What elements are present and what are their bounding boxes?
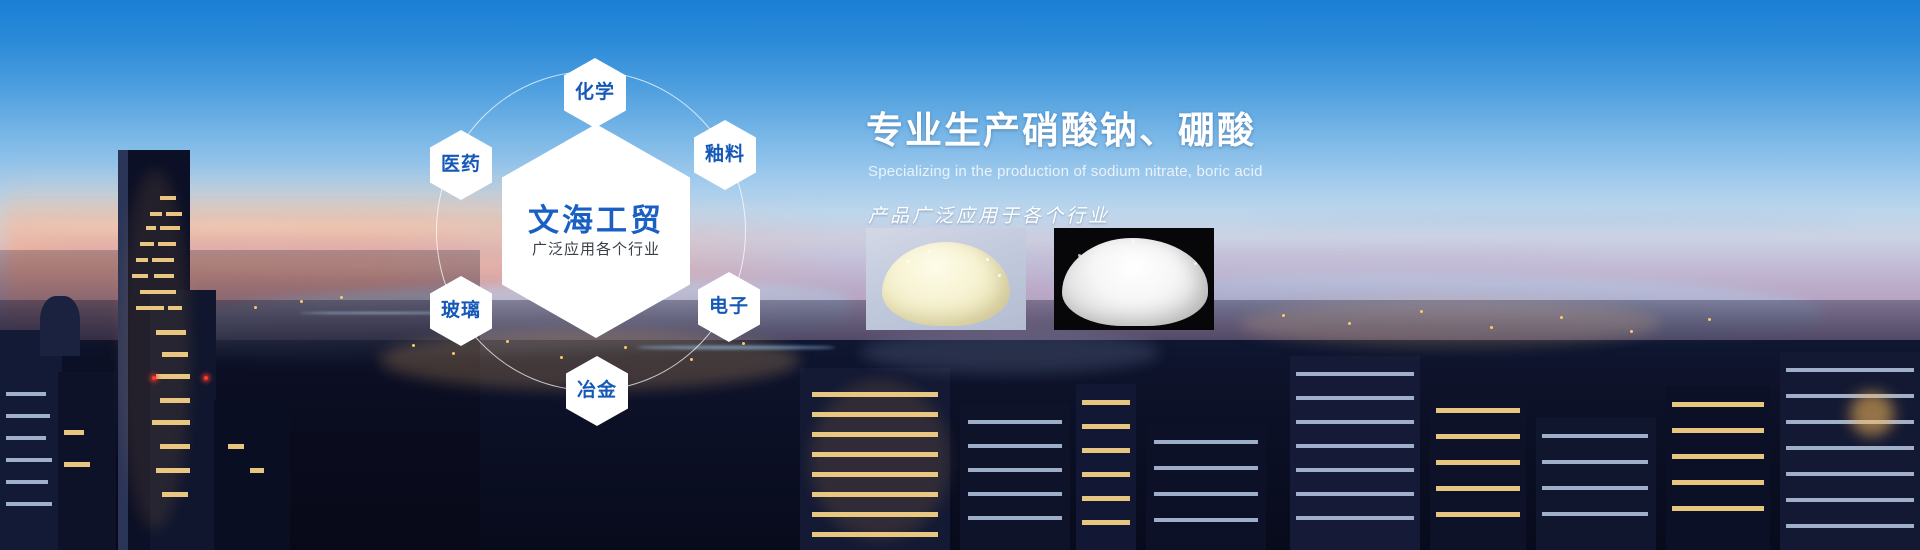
skyscraper xyxy=(58,372,116,550)
window-light xyxy=(812,472,938,477)
skyscraper xyxy=(1430,392,1526,550)
window-light xyxy=(1542,512,1648,516)
window-light xyxy=(156,330,186,335)
window-light xyxy=(968,492,1062,496)
window-light xyxy=(1296,468,1414,472)
city-light xyxy=(1490,326,1493,329)
window-light xyxy=(1786,394,1914,398)
window-light xyxy=(6,458,52,462)
powder-speck xyxy=(906,260,909,263)
window-light xyxy=(1082,448,1130,453)
city-light xyxy=(1348,322,1351,325)
powder-pile xyxy=(1062,238,1208,326)
powder-speck xyxy=(1194,262,1197,265)
industry-label: 玻璃 xyxy=(441,301,481,322)
window-light xyxy=(6,480,48,484)
window-light xyxy=(1672,480,1764,485)
tagline-cn: 产品广泛应用于各个行业 xyxy=(868,201,1866,228)
skyscraper xyxy=(1076,384,1136,550)
window-light xyxy=(132,274,148,278)
window-light xyxy=(1436,460,1520,465)
window-light xyxy=(146,226,156,230)
antenna-light xyxy=(152,376,156,380)
headline: 专业生产硝酸钠、硼酸 xyxy=(866,100,1866,154)
window-light xyxy=(1672,402,1764,407)
window-light xyxy=(968,444,1062,448)
window-light xyxy=(1296,444,1414,448)
city-light xyxy=(300,300,303,303)
powder-speck xyxy=(928,250,931,253)
window-light xyxy=(1296,420,1414,424)
product-photo-sodium-nitrate[interactable] xyxy=(866,228,1026,330)
window-light xyxy=(136,258,148,262)
window-light xyxy=(1786,498,1914,502)
window-light xyxy=(812,432,938,437)
window-light xyxy=(160,398,190,403)
window-light xyxy=(968,468,1062,472)
window-light xyxy=(140,242,154,246)
window-light xyxy=(1154,518,1258,522)
city-light xyxy=(340,296,343,299)
window-light xyxy=(1154,440,1258,444)
brand-name: 文海工贸 xyxy=(528,204,664,238)
window-light xyxy=(156,374,190,379)
city-light xyxy=(254,306,257,309)
window-light xyxy=(162,352,188,357)
window-light xyxy=(812,532,938,537)
product-photo-boric-acid[interactable] xyxy=(1054,228,1214,330)
window-light xyxy=(1296,372,1414,376)
window-light xyxy=(812,452,938,457)
city-light xyxy=(1282,314,1285,317)
industry-label: 电子 xyxy=(709,297,749,318)
skyscraper xyxy=(1290,356,1420,550)
window-light xyxy=(812,492,938,497)
powder-speck xyxy=(998,274,1001,277)
window-light xyxy=(250,468,264,473)
city-light xyxy=(1708,318,1711,321)
skyscraper xyxy=(1780,352,1920,550)
window-light xyxy=(1786,524,1914,528)
window-light xyxy=(1436,486,1520,491)
window-light xyxy=(1436,408,1520,413)
window-light xyxy=(812,412,938,417)
city-light xyxy=(412,344,415,347)
window-light xyxy=(1542,434,1648,438)
window-light xyxy=(160,196,176,200)
window-light xyxy=(1786,446,1914,450)
window-light xyxy=(1296,492,1414,496)
antenna-light xyxy=(204,376,208,380)
subheadline: Specializing in the production of sodium… xyxy=(868,163,1866,180)
powder-speck xyxy=(986,258,989,261)
window-light xyxy=(156,468,190,473)
window-light xyxy=(1672,454,1764,459)
window-light xyxy=(158,242,176,246)
skyscraper xyxy=(40,296,80,356)
window-light xyxy=(1082,424,1130,429)
window-light xyxy=(166,212,182,216)
window-light xyxy=(152,420,190,425)
industry-label: 冶金 xyxy=(577,381,617,402)
industry-label: 医药 xyxy=(441,155,481,176)
industry-label: 釉料 xyxy=(705,145,745,166)
distant-city-lights xyxy=(1240,300,1660,348)
powder-pile xyxy=(882,242,1010,326)
powder-speck xyxy=(1132,240,1135,243)
window-light xyxy=(6,436,46,440)
skyscraper xyxy=(214,400,290,550)
city-light xyxy=(1420,310,1423,313)
city-light xyxy=(1630,330,1633,333)
skyscraper xyxy=(0,330,62,550)
window-light xyxy=(1154,466,1258,470)
tower-glow xyxy=(120,170,190,530)
window-light xyxy=(1786,420,1914,424)
window-light xyxy=(1296,516,1414,520)
city-light xyxy=(1560,316,1563,319)
product-photo-group xyxy=(866,228,1214,330)
window-light xyxy=(6,392,46,396)
window-light xyxy=(968,420,1062,424)
window-light xyxy=(1542,460,1648,464)
window-light xyxy=(1154,492,1258,496)
brand-tagline: 广泛应用各个行业 xyxy=(532,242,660,259)
window-light xyxy=(162,492,188,497)
tower-glow xyxy=(1850,392,1894,436)
industry-label: 化学 xyxy=(575,83,615,104)
window-light xyxy=(140,290,176,294)
window-light xyxy=(1672,428,1764,433)
industry-hex-diagram: 文海工贸 广泛应用各个行业 化学 釉料 电子 冶金 玻璃 医药 xyxy=(418,36,778,426)
skyscraper xyxy=(960,404,1070,550)
distant-city-lights xyxy=(860,330,1160,374)
window-light xyxy=(1082,520,1130,525)
window-light xyxy=(154,274,174,278)
window-light xyxy=(1786,368,1914,372)
window-light xyxy=(228,444,244,449)
window-light xyxy=(1082,400,1130,405)
window-light xyxy=(1436,434,1520,439)
window-light xyxy=(812,392,938,397)
window-light xyxy=(1082,472,1130,477)
window-light xyxy=(1082,496,1130,501)
window-light xyxy=(968,516,1062,520)
window-light xyxy=(1672,506,1764,511)
window-light xyxy=(150,212,162,216)
window-light xyxy=(1542,486,1648,490)
powder-speck xyxy=(1078,254,1081,257)
window-light xyxy=(160,226,180,230)
window-light xyxy=(6,502,52,506)
headline-block: 专业生产硝酸钠、硼酸 Specializing in the productio… xyxy=(866,100,1866,228)
promo-banner: 文海工贸 广泛应用各个行业 化学 釉料 电子 冶金 玻璃 医药 专业生产硝酸钠、… xyxy=(0,0,1920,550)
window-light xyxy=(6,414,50,418)
window-light xyxy=(160,444,190,449)
window-light xyxy=(168,306,182,310)
skyscraper xyxy=(1666,386,1770,550)
window-light xyxy=(1296,396,1414,400)
window-light xyxy=(812,512,938,517)
window-light xyxy=(64,430,84,435)
window-light xyxy=(136,306,164,310)
window-light xyxy=(1786,472,1914,476)
window-light xyxy=(64,462,90,467)
window-light xyxy=(152,258,174,262)
window-light xyxy=(1436,512,1520,517)
